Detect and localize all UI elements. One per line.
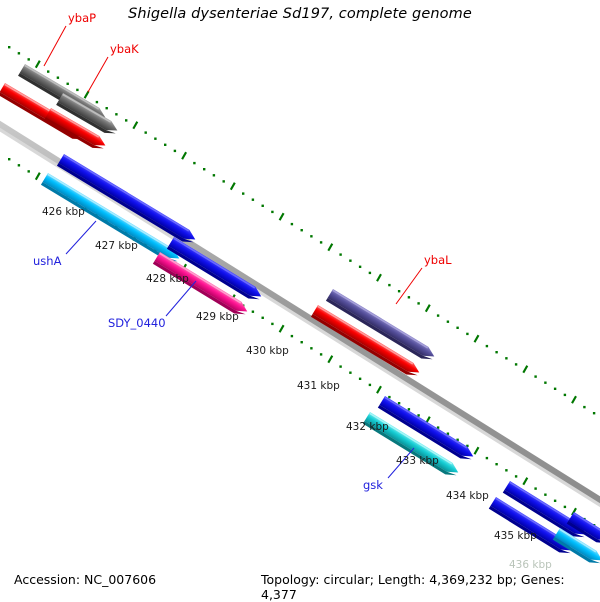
scale-tick-mark (523, 478, 527, 485)
scale-tick-mark (280, 325, 284, 332)
scale-guide-dot (398, 402, 400, 404)
scale-tick-label: 431 kbp (297, 380, 340, 392)
scale-guide-dot (76, 89, 78, 91)
scale-guide-dot (369, 384, 371, 386)
scale-guide-dot (349, 260, 351, 262)
gene-name-label[interactable]: ybaP (68, 11, 96, 25)
scale-guide-dot (320, 241, 322, 243)
scale-guide-dot (164, 144, 166, 146)
scale-tick-mark (572, 396, 576, 403)
scale-guide-dot (301, 341, 303, 343)
scale-guide-dot (57, 77, 59, 79)
scale-guide-dot (505, 469, 507, 471)
scale-guide-dot (28, 170, 30, 172)
gene-label-leader (88, 57, 108, 92)
scale-guide-dot (456, 327, 458, 329)
scale-guide-dot (437, 314, 439, 316)
scale-guide-dot (544, 382, 546, 384)
gene-label-leader-lines (44, 26, 422, 478)
scale-guide-dot (359, 266, 361, 268)
gene-name-label[interactable]: SDY_0440 (108, 316, 166, 330)
scale-guide-dot (554, 500, 556, 502)
scale-tick-mark (133, 122, 137, 129)
scale-guide-dot (301, 229, 303, 231)
scale-guide-dot (495, 463, 497, 465)
scale-guide-dot (28, 58, 30, 60)
scale-tick-mark (328, 356, 332, 363)
scale-guide-dot (242, 192, 244, 194)
scale-guide-dot (310, 235, 312, 237)
scale-guide-dot (96, 101, 98, 103)
scale-guide-dot (271, 323, 273, 325)
scale-guide-dot (8, 46, 10, 48)
scale-guide-dot (47, 70, 49, 72)
scale-guide-dot (67, 83, 69, 85)
scale-tick-mark (377, 274, 381, 281)
scale-tick-label: 427 kbp (95, 240, 138, 252)
scale-guide-dot (339, 253, 341, 255)
scale-guide-dot (271, 211, 273, 213)
scale-guide-dot (505, 357, 507, 359)
scale-tick-label: 430 kbp (246, 345, 289, 357)
scale-guide-dot (466, 333, 468, 335)
gene-label-leader (166, 281, 196, 316)
scale-guide-dot (515, 475, 517, 477)
gene-arrow-highlight (64, 155, 189, 231)
scale-tick-mark (523, 366, 527, 373)
scale-guide-dot (106, 107, 108, 109)
scale-guide-dot (554, 388, 556, 390)
scale-guide-dot (583, 406, 585, 408)
scale-guide-dot (349, 372, 351, 374)
scale-tick-label: 428 kbp (146, 273, 189, 285)
scale-guide-dot (398, 290, 400, 292)
scale-tick-mark (36, 173, 40, 180)
scale-tick-mark (328, 244, 332, 251)
scale-guide-dot (408, 296, 410, 298)
gene-label-leader (396, 268, 422, 304)
scale-tick-label: 434 kbp (446, 490, 489, 502)
scale-guide-dot (388, 396, 390, 398)
scale-tick-label: 433 kbp (396, 455, 439, 467)
scale-guide-dot (203, 168, 205, 170)
genome-map-viewport: Shigella dysenteriae Sd197, complete gen… (0, 0, 600, 600)
scale-guide-dot (174, 150, 176, 152)
scale-guide-dot (193, 162, 195, 164)
scale-tick-label: 436 kbp (509, 559, 552, 571)
gene-label-leader (44, 26, 66, 66)
scale-guide-dot (291, 223, 293, 225)
scale-guide-dot (515, 363, 517, 365)
scale-tick-label: 432 kbp (346, 421, 389, 433)
accession-text: Accession: NC_007606 (14, 572, 156, 587)
scale-guide-dot (495, 351, 497, 353)
scale-guide-dot (154, 138, 156, 140)
scale-guide-dot (447, 321, 449, 323)
scale-guide-dot (262, 317, 264, 319)
scale-tick-label: 435 kbp (494, 530, 537, 542)
genome-map-canvas (0, 0, 600, 600)
scale-guide-dot (18, 164, 20, 166)
scale-guide-dot (8, 158, 10, 160)
scale-guide-dot (544, 494, 546, 496)
scale-guide-dot (564, 506, 566, 508)
scale-guide-dot (262, 205, 264, 207)
scale-tick-mark (426, 305, 430, 312)
scale-guide-dot (593, 412, 595, 414)
scale-tick-label: 429 kbp (196, 311, 239, 323)
gene-name-label[interactable]: ybaL (424, 253, 452, 267)
gene-name-label[interactable]: ushA (33, 254, 61, 268)
scale-tick-label: 426 kbp (42, 206, 85, 218)
scale-guide-dot (408, 408, 410, 410)
scale-tick-mark (377, 386, 381, 393)
scale-guide-dot (310, 347, 312, 349)
scale-guide-dot (369, 272, 371, 274)
scale-guide-dot (115, 113, 117, 115)
scale-tick-mark (475, 447, 479, 454)
scale-guide-dot (564, 394, 566, 396)
scale-guide-dot (417, 302, 419, 304)
scale-tick-mark (182, 152, 186, 159)
scale-guide-dot (486, 345, 488, 347)
scale-tick-mark (36, 61, 40, 68)
scale-guide-dot (534, 375, 536, 377)
scale-guide-dot (145, 131, 147, 133)
scale-guide-dot (359, 378, 361, 380)
scale-tick-mark (280, 213, 284, 220)
scale-guide-dot (534, 487, 536, 489)
scale-tick-mark (85, 91, 89, 98)
genome-stats-text: Topology: circular; Length: 4,369,232 bp… (261, 572, 600, 602)
gene-name-label[interactable]: ybaK (110, 42, 139, 56)
scale-tick-mark (475, 335, 479, 342)
gene-name-label[interactable]: gsk (363, 478, 383, 492)
scale-guide-dot (320, 353, 322, 355)
scale-guide-dot (339, 365, 341, 367)
scale-guide-dot (252, 311, 254, 313)
scale-guide-dot (388, 284, 390, 286)
scale-guide-dot (291, 335, 293, 337)
gene-label-leader (66, 221, 96, 254)
scale-guide-dot (223, 180, 225, 182)
scale-guide-dot (125, 119, 127, 121)
scale-tick-mark (231, 183, 235, 190)
scale-guide-dot (486, 457, 488, 459)
scale-guide-dot (18, 52, 20, 54)
scale-guide-dot (252, 199, 254, 201)
scale-guide-dot (213, 174, 215, 176)
